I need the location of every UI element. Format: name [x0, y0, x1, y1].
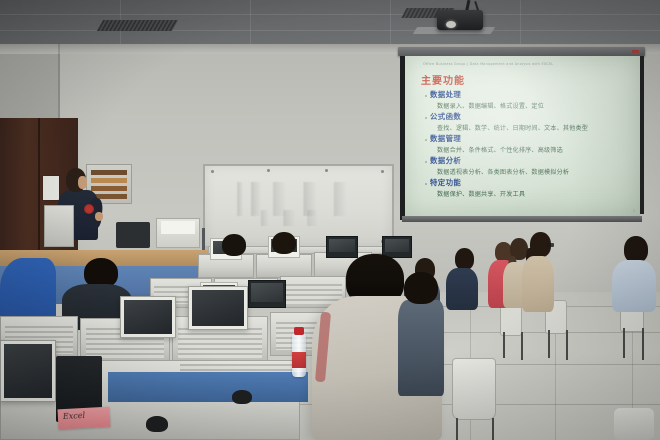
presenter-shirt-logo	[84, 204, 94, 214]
screen-right-edge	[640, 56, 644, 214]
foreground-chair[interactable]	[452, 358, 496, 420]
screen-case-indicator-icon	[632, 50, 639, 53]
workstation-monitor[interactable]	[248, 280, 286, 308]
projection-screen-case	[398, 47, 645, 56]
ceiling	[0, 0, 660, 48]
ceiling-vent-icon	[97, 20, 178, 31]
computer-mouse[interactable]	[146, 416, 168, 432]
foreground-head	[404, 272, 438, 304]
projector-lens-icon	[446, 21, 456, 28]
bottle-label	[292, 352, 306, 368]
audience-head	[455, 248, 474, 270]
audience-torso	[522, 256, 554, 312]
podium-paper	[161, 221, 195, 234]
podium-pc-tower	[44, 205, 74, 247]
podium-monitor	[116, 222, 150, 248]
glasses-icon	[547, 243, 554, 247]
foreground-man-second-person	[398, 300, 444, 396]
projector	[437, 10, 483, 30]
foreground-monitor[interactable]	[0, 340, 56, 402]
presenter-hand	[95, 212, 103, 221]
screen-light-glow	[405, 56, 640, 216]
foreground-chair-right[interactable]	[614, 408, 654, 440]
microphone-stand	[202, 228, 205, 250]
audience-torso	[446, 268, 478, 310]
handwritten-label-card: Excel	[58, 407, 111, 430]
label-card-text: Excel	[63, 411, 86, 421]
door-notice-paper	[43, 176, 59, 200]
screen-bottom-bar	[402, 216, 642, 222]
whiteboard-erased-writing-2	[255, 210, 325, 226]
foreground-monitor[interactable]	[120, 296, 176, 338]
student-head	[272, 232, 296, 254]
audience-head	[624, 236, 648, 263]
desk-blue-panel	[108, 372, 308, 402]
audience-torso	[612, 260, 656, 312]
presenter-face	[78, 176, 87, 189]
computer-mouse[interactable]	[232, 390, 252, 404]
student-head	[222, 234, 246, 256]
foreground-monitor[interactable]	[188, 286, 248, 330]
classroom-photo: Office Business Group | Data Management …	[0, 0, 660, 440]
projection-screen: Office Business Group | Data Management …	[405, 56, 640, 216]
workstation-monitor[interactable]	[326, 236, 358, 258]
bottle-cap	[294, 327, 304, 335]
